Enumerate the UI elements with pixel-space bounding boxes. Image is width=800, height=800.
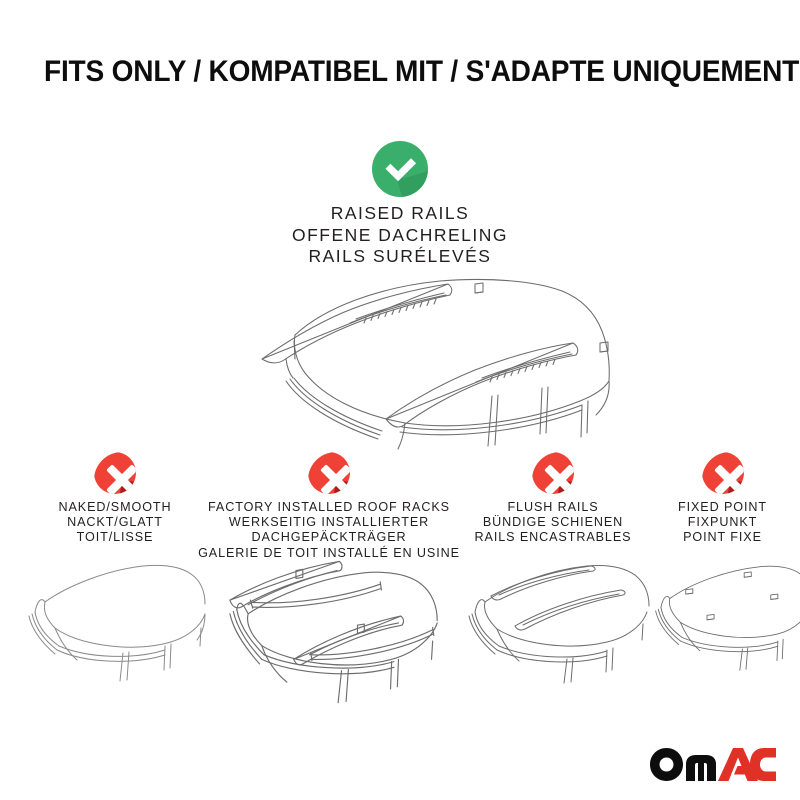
caption-line: FLUSH RAILS bbox=[455, 500, 651, 515]
caption-line: BÜNDIGE SCHIENEN bbox=[455, 515, 651, 530]
incompatible-section: NAKED/SMOOTH NACKT/GLATT TOIT/LISSE bbox=[0, 452, 800, 692]
car-roof-naked-smooth-illustration bbox=[15, 556, 215, 686]
incompatible-caption-fixed-point: FIXED POINT FIXPUNKT POINT FIXE bbox=[645, 500, 800, 546]
check-circle-icon bbox=[372, 141, 428, 197]
caption-line: FACTORY INSTALLED ROOF RACKS bbox=[198, 500, 460, 515]
compatible-caption: RAISED RAILS OFFENE DACHRELING RAILS SUR… bbox=[0, 203, 800, 268]
x-circle-icon bbox=[702, 452, 744, 494]
caption-line: WERKSEITIG INSTALLIERTER bbox=[198, 515, 460, 530]
car-roof-fixed-point-illustration bbox=[645, 556, 800, 671]
x-circle-icon bbox=[532, 452, 574, 494]
compatible-line-2: OFFENE DACHRELING bbox=[0, 225, 800, 247]
x-circle-icon bbox=[94, 452, 136, 494]
x-circle-icon bbox=[308, 452, 350, 494]
compatible-line-1: RAISED RAILS bbox=[0, 203, 800, 225]
caption-line: NACKT/GLATT bbox=[15, 515, 215, 530]
incompatible-caption-flush-rails: FLUSH RAILS BÜNDIGE SCHIENEN RAILS ENCAS… bbox=[455, 500, 651, 546]
compatibility-infographic: FITS ONLY / KOMPATIBEL MIT / S'ADAPTE UN… bbox=[0, 0, 800, 800]
page-title: FITS ONLY / KOMPATIBEL MIT / S'ADAPTE UN… bbox=[44, 56, 736, 88]
caption-line: FIXED POINT bbox=[645, 500, 800, 515]
car-roof-raised-rails-illustration bbox=[190, 275, 630, 455]
caption-line: NAKED/SMOOTH bbox=[15, 500, 215, 515]
car-roof-flush-rails-illustration bbox=[455, 554, 651, 684]
car-roof-factory-racks-illustration bbox=[198, 550, 460, 709]
compatible-line-3: RAILS SURÉLEVÉS bbox=[0, 246, 800, 268]
caption-line: DACHGEPÄCKTRÄGER bbox=[198, 530, 460, 545]
caption-line: TOIT/LISSE bbox=[15, 530, 215, 545]
incompatible-caption-naked-smooth: NAKED/SMOOTH NACKT/GLATT TOIT/LISSE bbox=[15, 500, 215, 546]
caption-line: RAILS ENCASTRABLES bbox=[455, 530, 651, 545]
omac-logo bbox=[648, 746, 778, 782]
caption-line: POINT FIXE bbox=[645, 530, 800, 545]
caption-line: FIXPUNKT bbox=[645, 515, 800, 530]
